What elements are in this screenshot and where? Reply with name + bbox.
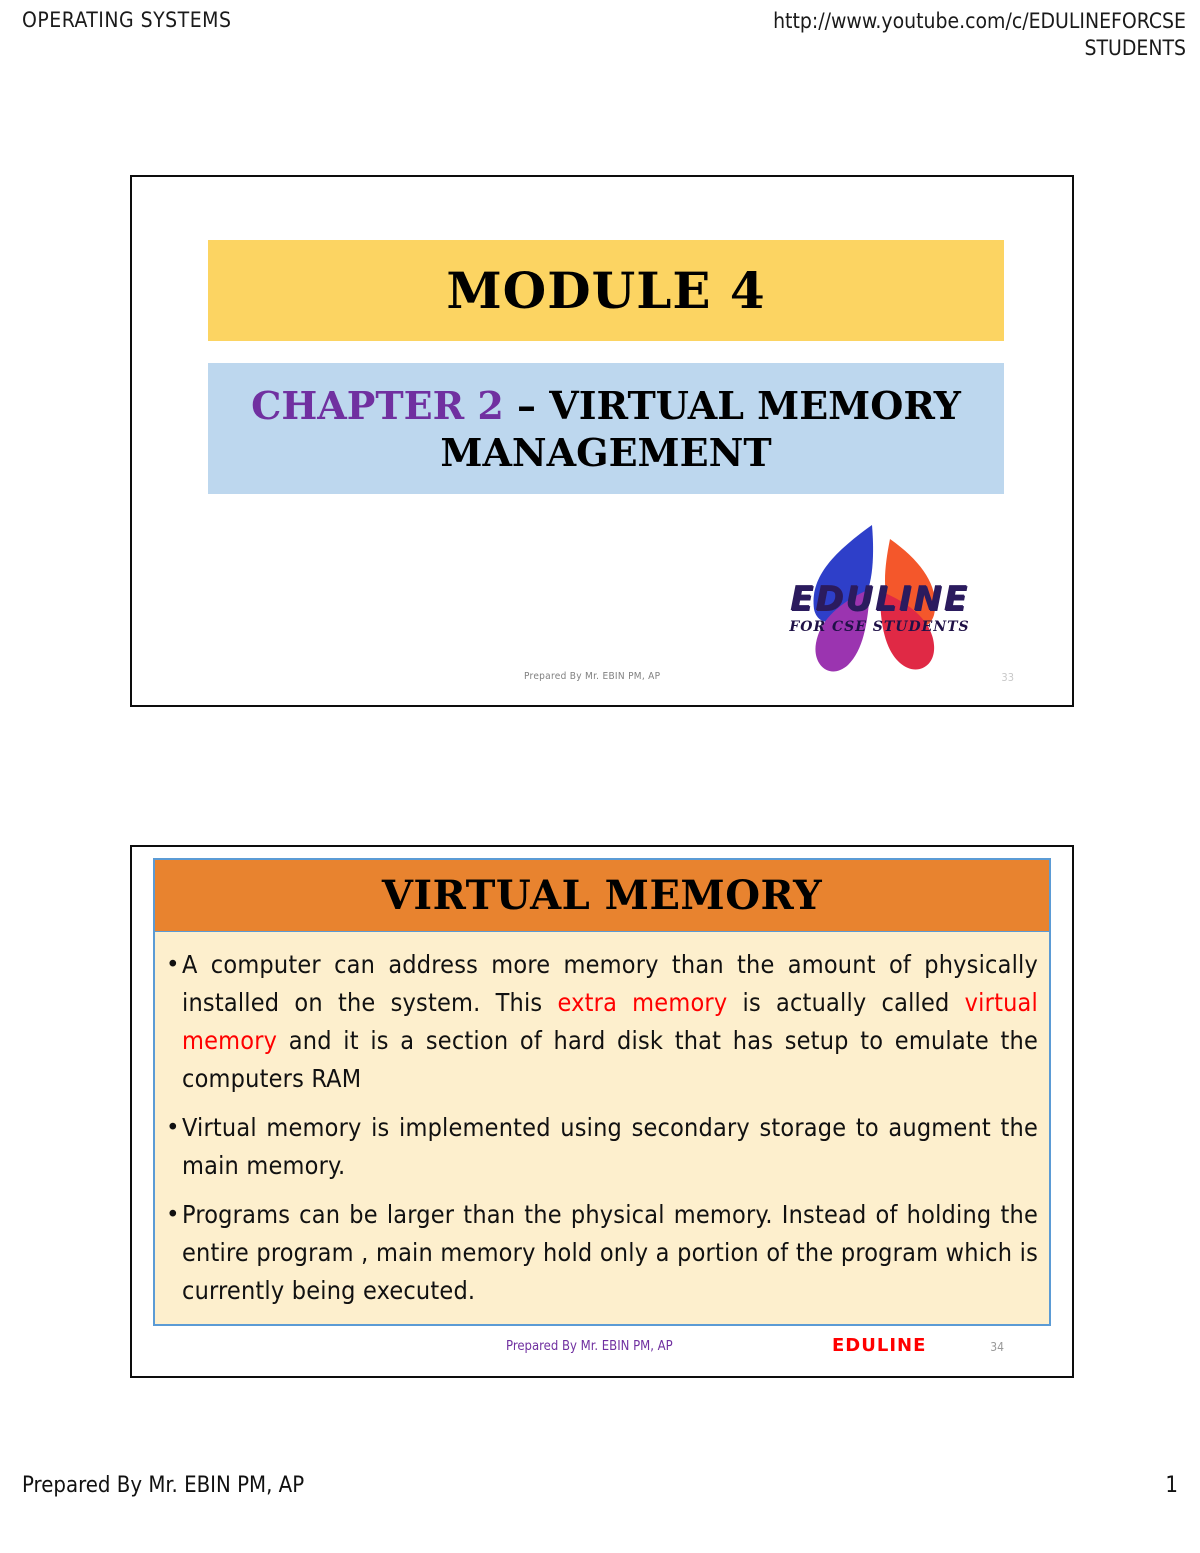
slide2-title-text: VIRTUAL MEMORY — [382, 872, 822, 919]
page-footer-author: Prepared By Mr. EBIN PM, AP — [22, 1473, 304, 1498]
bullet-text-3: Programs can be larger than the physical… — [182, 1196, 1038, 1310]
eduline-logo: EDULINE FOR CSE STUDENTS — [772, 517, 987, 677]
bullet-1-part-2: is actually called — [727, 988, 964, 1017]
chapter-title-text: CHAPTER 2 – VIRTUAL MEMORY MANAGEMENT — [208, 382, 1004, 476]
chapter-accent-text: CHAPTER 2 — [251, 383, 504, 428]
module-title-band: MODULE 4 — [208, 240, 1004, 341]
bullet-marker-icon: • — [166, 946, 182, 984]
header-channel-url-line1: http://www.youtube.com/c/EDULINEFORCSE — [626, 8, 1186, 35]
header-course-title: OPERATING SYSTEMS — [22, 8, 231, 32]
slide2-content-panel: VIRTUAL MEMORY • A computer can address … — [153, 858, 1051, 1326]
header-channel-url-line2: STUDENTS — [626, 35, 1186, 62]
bullet-marker-icon: • — [166, 1109, 182, 1147]
logo-wordmark: EDULINE — [772, 579, 987, 619]
bullet-text-2: Virtual memory is implemented using seco… — [182, 1109, 1038, 1185]
logo-tagline: FOR CSE STUDENTS — [772, 619, 987, 635]
module-title-text: MODULE 4 — [446, 261, 765, 320]
slide2-footer-number: 34 — [990, 1340, 1004, 1354]
list-item: • Programs can be larger than the physic… — [166, 1196, 1038, 1310]
page-footer: Prepared By Mr. EBIN PM, AP 1 — [0, 1473, 1200, 1507]
slide1-footer-note: Prepared By Mr. EBIN PM, AP — [524, 671, 660, 682]
chapter-rest-text: – VIRTUAL MEMORY MANAGEMENT — [440, 383, 961, 475]
slide-title: MODULE 4 CHAPTER 2 – VIRTUAL MEMORY MANA… — [130, 175, 1074, 707]
list-item: • Virtual memory is implemented using se… — [166, 1109, 1038, 1185]
bullet-1-part-3: and it is a section of hard disk that ha… — [182, 1026, 1038, 1093]
header-channel-url: http://www.youtube.com/c/EDULINEFORCSE S… — [626, 8, 1186, 62]
slide2-footer-note: Prepared By Mr. EBIN PM, AP — [506, 1339, 673, 1354]
slide-virtual-memory: VIRTUAL MEMORY • A computer can address … — [130, 845, 1074, 1378]
bullet-marker-icon: • — [166, 1196, 182, 1234]
chapter-title-band: CHAPTER 2 – VIRTUAL MEMORY MANAGEMENT — [208, 363, 1004, 494]
slide2-bullet-list: • A computer can address more memory tha… — [155, 932, 1049, 1310]
slide2-title-band: VIRTUAL MEMORY — [155, 860, 1049, 932]
bullet-1-highlight-1: extra memory — [558, 988, 728, 1017]
slide2-footer-brand: EDULINE — [832, 1335, 926, 1356]
slide1-footer-number: 33 — [1001, 671, 1014, 684]
list-item: • A computer can address more memory tha… — [166, 946, 1038, 1098]
page-footer-number: 1 — [1165, 1473, 1178, 1498]
page-header: OPERATING SYSTEMS http://www.youtube.com… — [0, 0, 1200, 70]
bullet-text-1: A computer can address more memory than … — [182, 946, 1038, 1098]
